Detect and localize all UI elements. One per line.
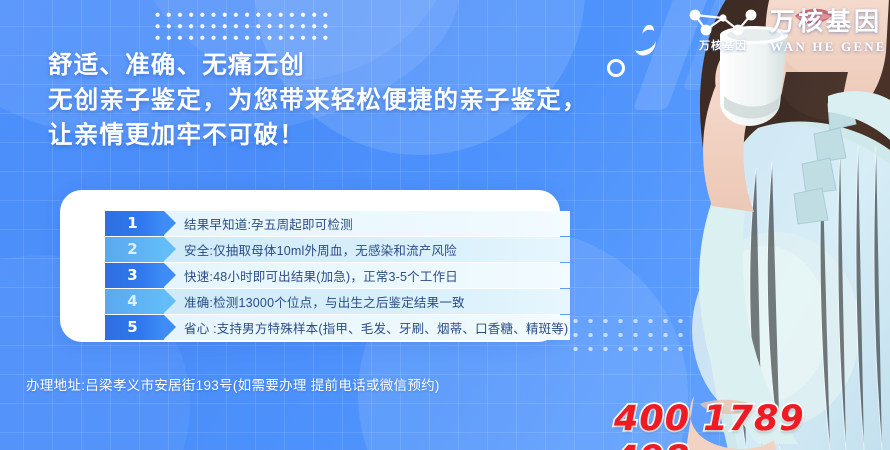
molecule-dna-icon: 万核基因: [686, 6, 760, 56]
headline-line-1: 舒适、准确、无痛无创: [48, 48, 588, 83]
feature-number: 1: [105, 211, 164, 236]
feature-text: 省心 :支持男方特殊样本(指甲、毛发、牙刷、烟蒂、口香糖、精斑等): [164, 315, 570, 340]
brand-wordmark: 万核基因 WAN HE GENE: [770, 7, 887, 55]
promo-banner: 万核基因 万核基因 WAN HE GENE 舒适、准确、无痛无创 无创亲子鉴定，…: [0, 0, 890, 450]
feature-row: 1 结果早知道:孕五周起即可检测: [105, 211, 570, 236]
feature-number: 5: [105, 315, 164, 340]
brand-name-en: WAN HE GENE: [770, 39, 887, 55]
feature-number: 4: [105, 289, 164, 314]
feature-text: 快速:48小时即可出结果(加急)，正常3-5个工作日: [164, 263, 570, 288]
feature-row: 5 省心 :支持男方特殊样本(指甲、毛发、牙刷、烟蒂、口香糖、精斑等): [105, 315, 570, 340]
feature-text: 准确:检测13000个位点，与出生之后鉴定结果一致: [164, 289, 570, 314]
brand-name-cn: 万核基因: [770, 9, 887, 37]
feature-number: 2: [105, 237, 164, 262]
headline-line-3: 让亲情更加牢不可破！: [48, 118, 588, 153]
headline-line-2: 无创亲子鉴定，为您带来轻松便捷的亲子鉴定，: [48, 83, 588, 118]
address-text: 办理地址:吕梁孝义市安居街193号(如需要办理 提前电话或微信预约): [26, 374, 440, 394]
brand-logo: 万核基因 万核基因 WAN HE GENE: [686, 6, 887, 56]
feature-list: 1 结果早知道:孕五周起即可检测 2 安全:仅抽取母体10ml外周血，无感染和流…: [105, 211, 570, 341]
feature-number: 3: [105, 263, 164, 288]
logo-mark-label: 万核基因: [686, 37, 760, 53]
feature-row: 2 安全:仅抽取母体10ml外周血，无感染和流产风险: [105, 237, 570, 262]
feature-text: 结果早知道:孕五周起即可检测: [164, 211, 570, 236]
feature-row: 3 快速:48小时即可出结果(加急)，正常3-5个工作日: [105, 263, 570, 288]
feature-text: 安全:仅抽取母体10ml外周血，无感染和流产风险: [164, 237, 570, 262]
phone-number[interactable]: 400 1789 498: [614, 399, 890, 450]
headline: 舒适、准确、无痛无创 无创亲子鉴定，为您带来轻松便捷的亲子鉴定， 让亲情更加牢不…: [48, 48, 588, 153]
feature-row: 4 准确:检测13000个位点，与出生之后鉴定结果一致: [105, 289, 570, 314]
pregnant-woman-photo: [590, 0, 890, 450]
